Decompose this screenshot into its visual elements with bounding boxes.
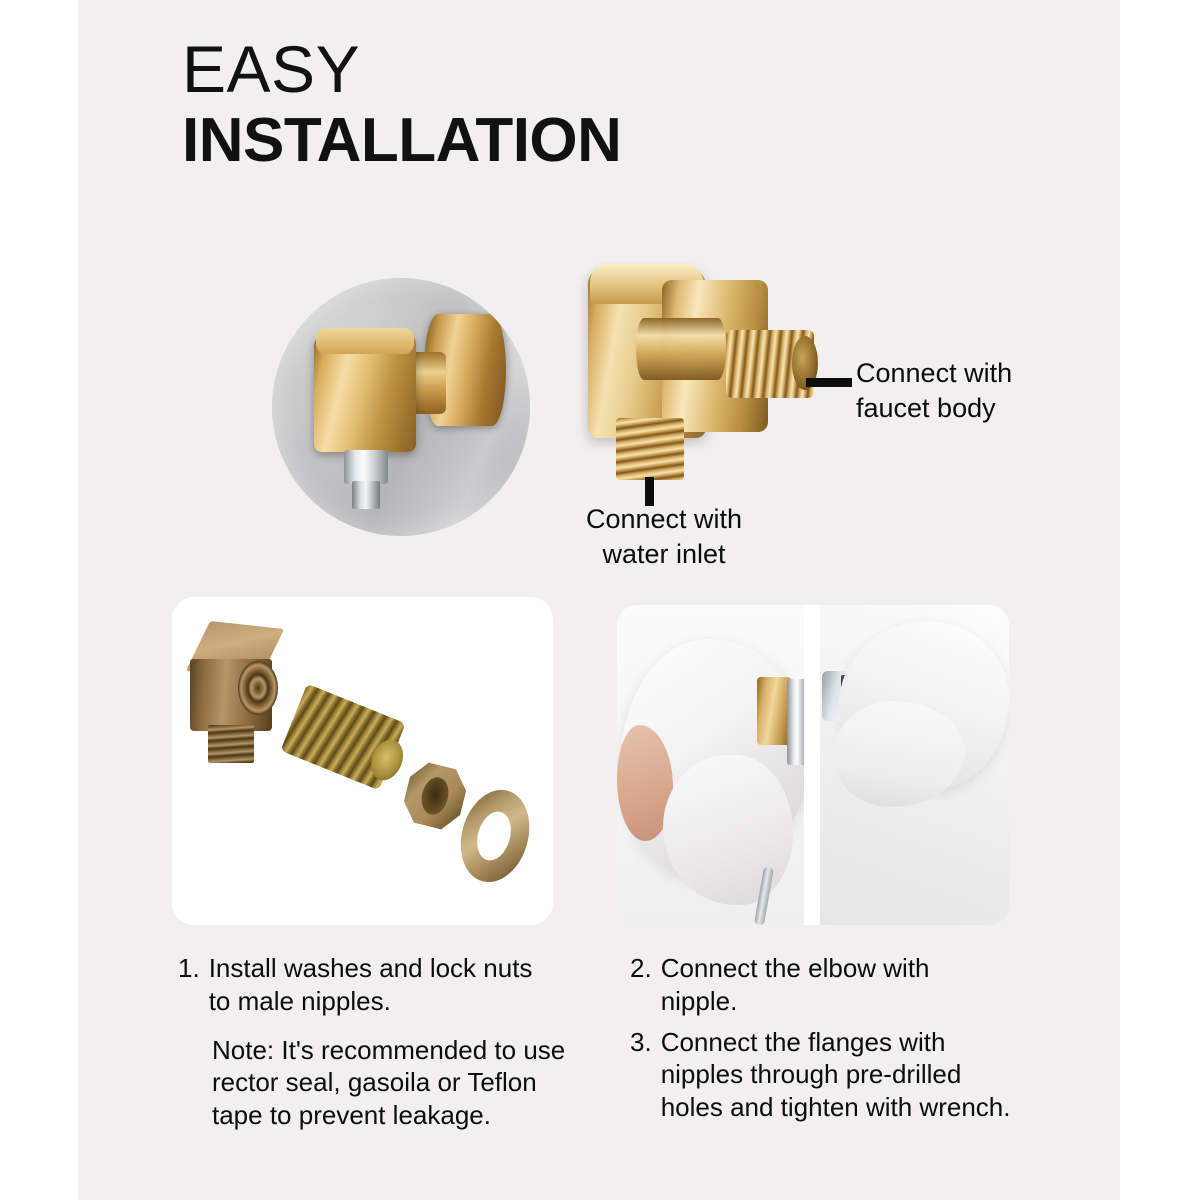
instructions-right-column: 2. Connect the elbow with nipple. 3. Con… (630, 952, 1030, 1132)
gold-elbow-top-face (316, 328, 414, 354)
chrome-tip (352, 481, 380, 509)
page-title: EASY INSTALLATION (182, 38, 621, 171)
step-2-text: Connect the elbow with nipple. (661, 952, 1030, 1018)
step-3-number: 3. (630, 1026, 652, 1124)
part-elbow-female-socket (238, 661, 278, 715)
part-elbow-male-stub (208, 725, 254, 763)
photo-exploded-parts (172, 597, 553, 925)
photo-gloved-hands-assembly (617, 605, 1009, 925)
installation-note: Note: It's recommended to use rector sea… (212, 1034, 578, 1132)
step-1-text: Install washes and lock nuts to male nip… (209, 952, 578, 1018)
photo-divider (804, 605, 820, 925)
step-1-number: 1. (178, 952, 200, 1018)
held-brass-fitting (757, 677, 791, 745)
elbow-collar-ring (636, 318, 726, 380)
photo-wall-mounted-valve (272, 278, 530, 536)
elbow-bottom-male-thread (616, 418, 684, 480)
photo-brass-elbow (576, 262, 828, 494)
installation-guide-page: EASY INSTALLATION Connect with faucet bo… (0, 0, 1200, 1200)
step-3: 3. Connect the flanges with nipples thro… (630, 1026, 1030, 1124)
step-3-text: Connect the flanges with nipples through… (661, 1026, 1030, 1124)
step-1: 1. Install washes and lock nuts to male … (178, 952, 578, 1018)
title-line-installation: INSTALLATION (182, 111, 621, 171)
callout-faucet-body: Connect with faucet body (856, 356, 1012, 425)
step-2: 2. Connect the elbow with nipple. (630, 952, 1030, 1018)
title-line-easy: EASY (182, 38, 621, 101)
step-2-number: 2. (630, 952, 652, 1018)
leader-line-faucet-body (806, 378, 852, 387)
chrome-stub (344, 450, 388, 484)
instructions-left-column: 1. Install washes and lock nuts to male … (178, 952, 578, 1132)
callout-water-inlet: Connect with water inlet (569, 502, 759, 571)
